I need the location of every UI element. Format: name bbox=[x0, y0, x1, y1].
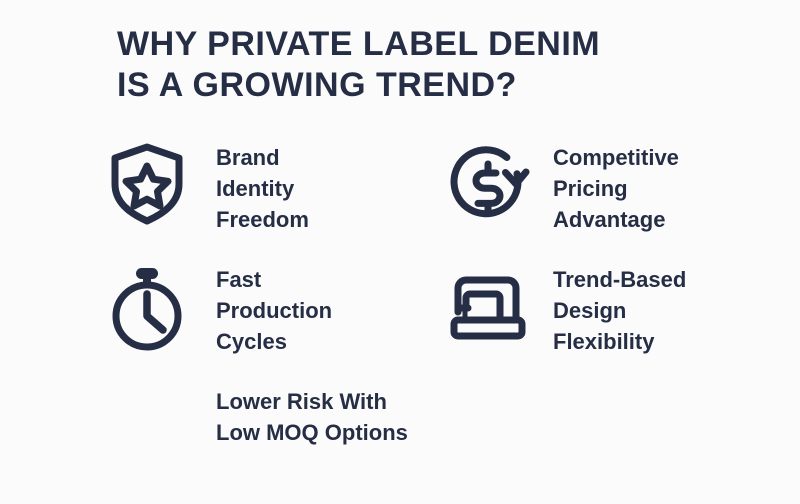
feature-label: Brand Identity Freedom bbox=[216, 138, 309, 235]
page-title-line-1: WHY PRIVATE LABEL DENIM bbox=[117, 24, 737, 65]
feature-row-1: Brand Identity Freedom Competitive Prici… bbox=[0, 138, 800, 260]
feature-row-3: Lower Risk With Low MOQ Options bbox=[0, 382, 800, 504]
feature-label: Trend-Based Design Flexibility bbox=[553, 260, 686, 357]
dollar-circular-arrow-icon bbox=[446, 138, 532, 224]
page-title: WHY PRIVATE LABEL DENIM IS A GROWING TRE… bbox=[117, 24, 737, 106]
infographic-canvas: WHY PRIVATE LABEL DENIM IS A GROWING TRE… bbox=[0, 0, 800, 500]
feature-item-competitive-pricing-advantage: Competitive Pricing Advantage bbox=[446, 138, 679, 235]
stopwatch-icon bbox=[104, 260, 190, 346]
feature-item-brand-identity-freedom: Brand Identity Freedom bbox=[104, 138, 309, 235]
feature-list: Brand Identity Freedom Competitive Prici… bbox=[0, 138, 800, 504]
feature-item-trend-based-design-flexibility: Trend-Based Design Flexibility bbox=[446, 260, 686, 357]
feature-item-lower-risk-low-moq: Lower Risk With Low MOQ Options bbox=[104, 382, 408, 448]
page-title-line-2: IS A GROWING TREND? bbox=[117, 65, 737, 106]
feature-item-fast-production-cycles: Fast Production Cycles bbox=[104, 260, 332, 357]
feature-label: Lower Risk With Low MOQ Options bbox=[216, 382, 408, 448]
shield-star-icon bbox=[104, 138, 190, 224]
feature-label: Fast Production Cycles bbox=[216, 260, 332, 357]
feature-label: Competitive Pricing Advantage bbox=[553, 138, 679, 235]
feature-row-2: Fast Production Cycles Trend-Based Desig… bbox=[0, 260, 800, 382]
sewing-machine-icon bbox=[446, 260, 532, 346]
